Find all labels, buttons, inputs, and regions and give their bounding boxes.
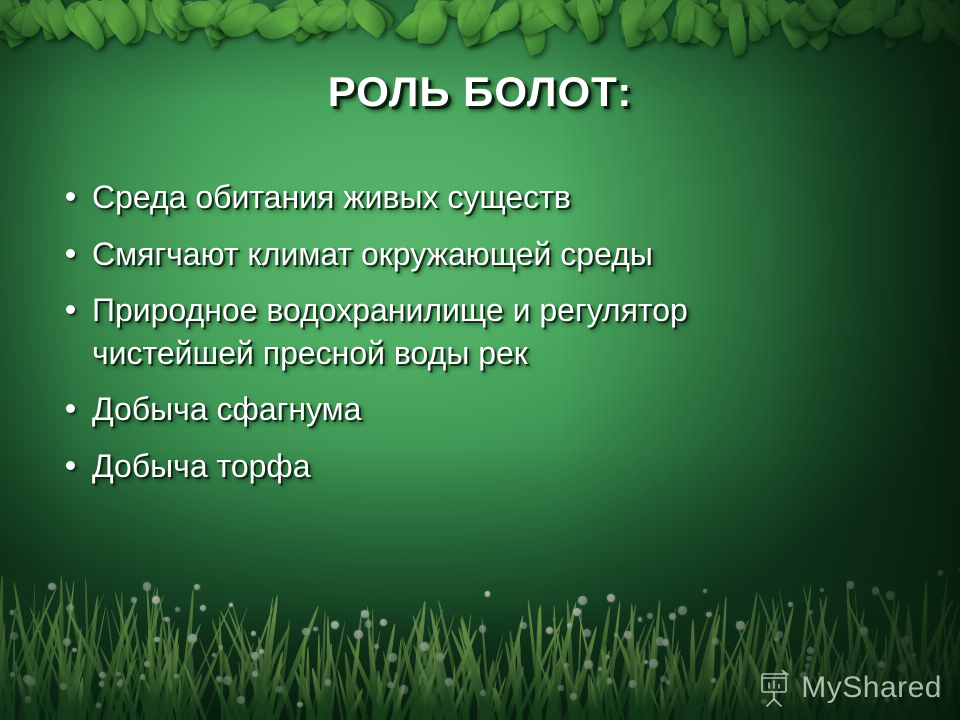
bullet-dot-icon [66,461,75,470]
list-item: Среда обитания живых существ [58,176,848,219]
slide-title: РОЛЬ БОЛОТ: [0,68,960,116]
bullet-text: Добыча сфагнума [92,388,848,431]
bullet-dot-icon [66,192,75,201]
bullet-text: Добыча торфа [92,445,848,488]
list-item: Смягчают климат окружающей среды [58,233,848,276]
bullet-dot-icon [66,305,75,314]
bullet-list: Среда обитания живых существ Смягчают кл… [58,176,848,501]
bullet-text: Смягчают климат окружающей среды [92,233,848,276]
bullet-text: Среда обитания живых существ [92,176,848,219]
list-item: Добыча сфагнума [58,388,848,431]
list-item: Природное водохранилище и регулятор чист… [58,289,848,374]
list-item: Добыча торфа [58,445,848,488]
bullet-dot-icon [66,404,75,413]
presentation-slide: РОЛЬ БОЛОТ: Среда обитания живых существ… [0,0,960,720]
bullet-text: Природное водохранилище и регулятор чист… [92,289,848,374]
bullet-dot-icon [66,249,75,258]
